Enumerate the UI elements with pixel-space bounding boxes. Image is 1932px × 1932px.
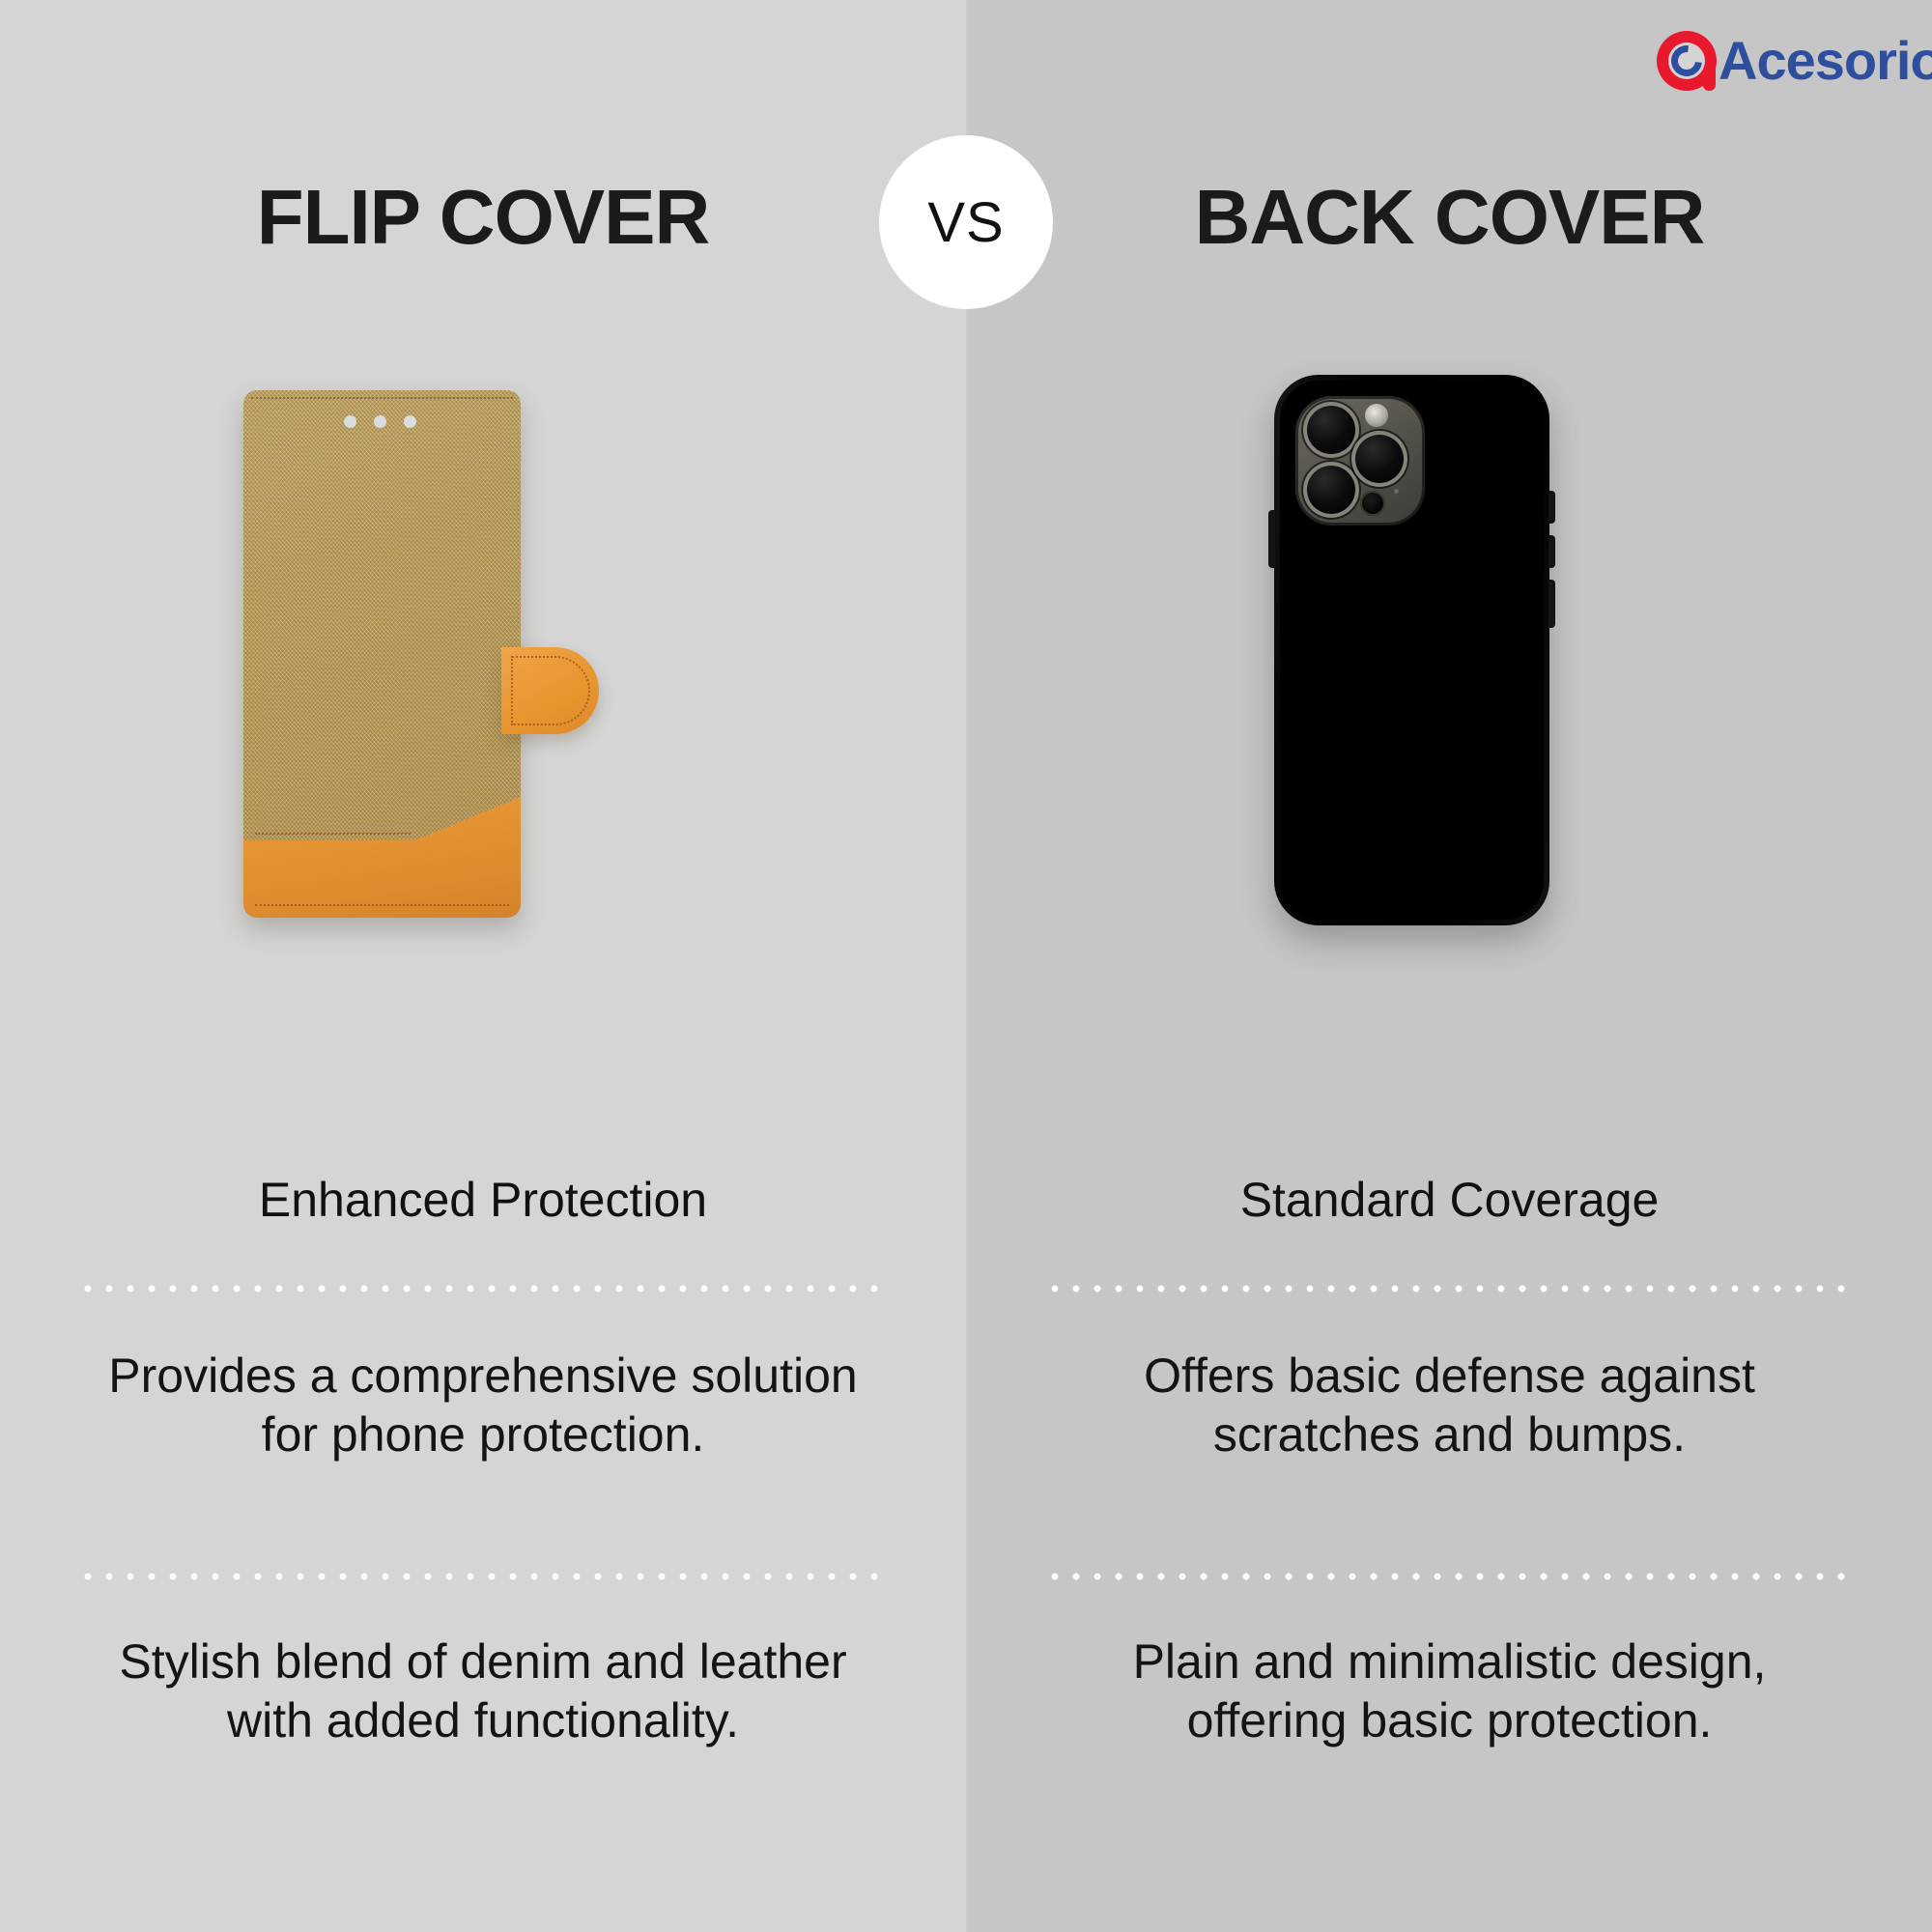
camera-lens-icon: [1303, 402, 1359, 458]
flip-cover-fabric-body: [243, 390, 521, 918]
feature-point: Stylish blend of denim and leather with …: [0, 1580, 966, 1750]
diagonal-stitching: [255, 833, 411, 835]
feature-title: Enhanced Protection: [0, 1174, 966, 1227]
brand-logo[interactable]: Acesorios: [1657, 27, 1932, 95]
heading-flip-cover: FLIP COVER: [0, 169, 966, 266]
volume-down-button: [1548, 535, 1555, 568]
dotted-separator: [77, 1285, 889, 1293]
feature-point: Offers basic defense against scratches a…: [967, 1293, 1932, 1464]
microphone-icon: [1394, 489, 1399, 494]
power-button: [1548, 580, 1555, 628]
feature-title: Standard Coverage: [967, 1174, 1932, 1227]
dotted-separator: [1044, 1573, 1856, 1580]
product-image-back-cover: [967, 367, 1932, 1140]
features-back-cover: Standard Coverage Offers basic defense a…: [967, 1174, 1932, 1750]
lidar-sensor-icon: [1360, 491, 1385, 516]
vs-badge: VS: [879, 135, 1053, 309]
top-stitching: [251, 397, 513, 399]
volume-up-button: [1548, 491, 1555, 524]
camera-lens-icon: [1303, 462, 1359, 518]
dotted-separator: [1044, 1285, 1856, 1293]
camera-lens-icon: [1351, 431, 1407, 487]
camera-cutout-holes-icon: [344, 415, 416, 428]
flash-icon: [1365, 404, 1388, 427]
comparison-infographic: Acesorios FLIP COVER BACK COVER VS: [0, 0, 1932, 1932]
feature-point: Plain and minimalistic design, offering …: [967, 1580, 1932, 1750]
camera-module-plate: [1295, 396, 1425, 526]
brand-name: Acesorios: [1719, 34, 1932, 88]
feature-point: Provides a comprehensive solution for ph…: [0, 1293, 966, 1464]
dotted-separator: [77, 1573, 889, 1580]
magnetic-clasp-tab: [501, 647, 599, 734]
bottom-stitching: [255, 904, 509, 906]
features-flip-cover: Enhanced Protection Provides a comprehen…: [0, 1174, 966, 1750]
action-button: [1268, 510, 1275, 568]
vs-label: VS: [927, 190, 1004, 255]
acesorios-a-mark-icon: [1657, 31, 1717, 91]
bottom-leather-panel: [243, 797, 521, 918]
heading-back-cover: BACK COVER: [967, 169, 1932, 266]
product-image-flip-cover: [0, 367, 966, 1140]
back-cover-case-body: [1274, 375, 1549, 925]
